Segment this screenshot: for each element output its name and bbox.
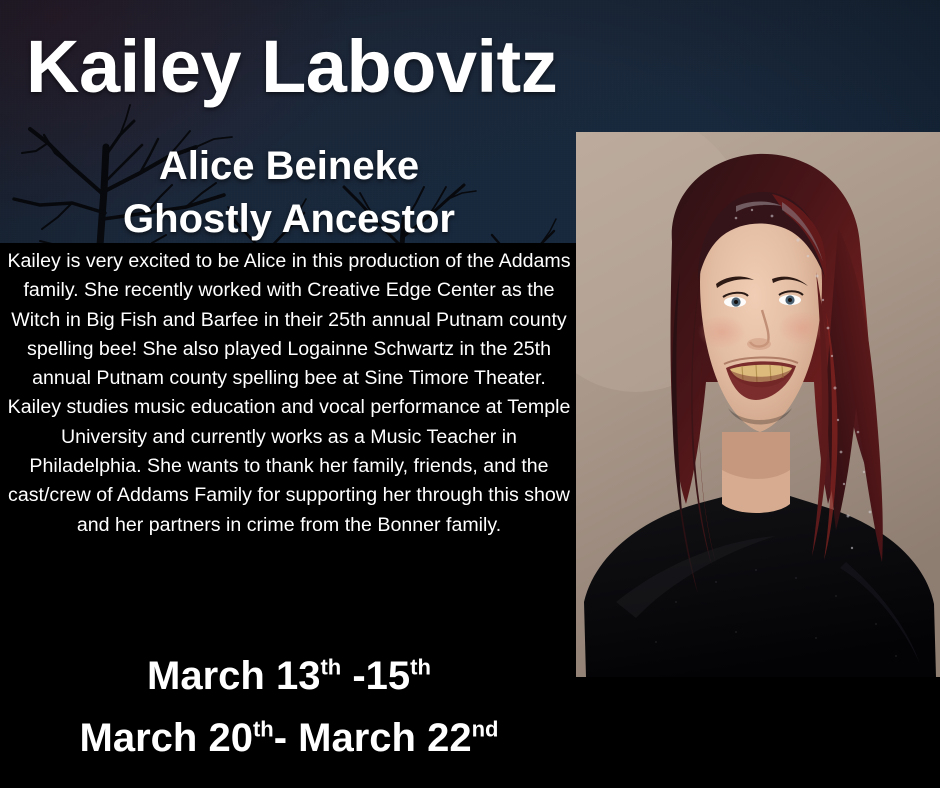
- playbill-poster: Kailey Labovitz Alice Beineke Ghostly An…: [0, 0, 940, 788]
- role-secondary: Ghostly Ancestor: [0, 193, 578, 246]
- date1-middle: -15: [341, 654, 410, 698]
- date2-prefix: March 20: [80, 716, 253, 760]
- date-line-1: March 13th -15th: [0, 645, 578, 707]
- role-primary: Alice Beineke: [0, 140, 578, 193]
- bio-panel: Kailey is very excited to be Alice in th…: [0, 243, 578, 617]
- date2-ordinal-2: nd: [472, 717, 499, 742]
- date-line-2: March 20th- March 22nd: [0, 707, 578, 769]
- date1-ordinal-2: th: [410, 655, 431, 680]
- date1-prefix: March 13: [147, 654, 320, 698]
- headshot-photo: [576, 132, 940, 677]
- bio-text: Kailey is very excited to be Alice in th…: [6, 247, 572, 540]
- role-list: Alice Beineke Ghostly Ancestor: [0, 140, 578, 246]
- date2-middle: - March 22: [274, 716, 472, 760]
- performance-dates: March 13th -15th March 20th- March 22nd: [0, 645, 578, 770]
- performer-name: Kailey Labovitz: [26, 30, 557, 104]
- date2-ordinal-1: th: [253, 717, 274, 742]
- date1-ordinal-1: th: [320, 655, 341, 680]
